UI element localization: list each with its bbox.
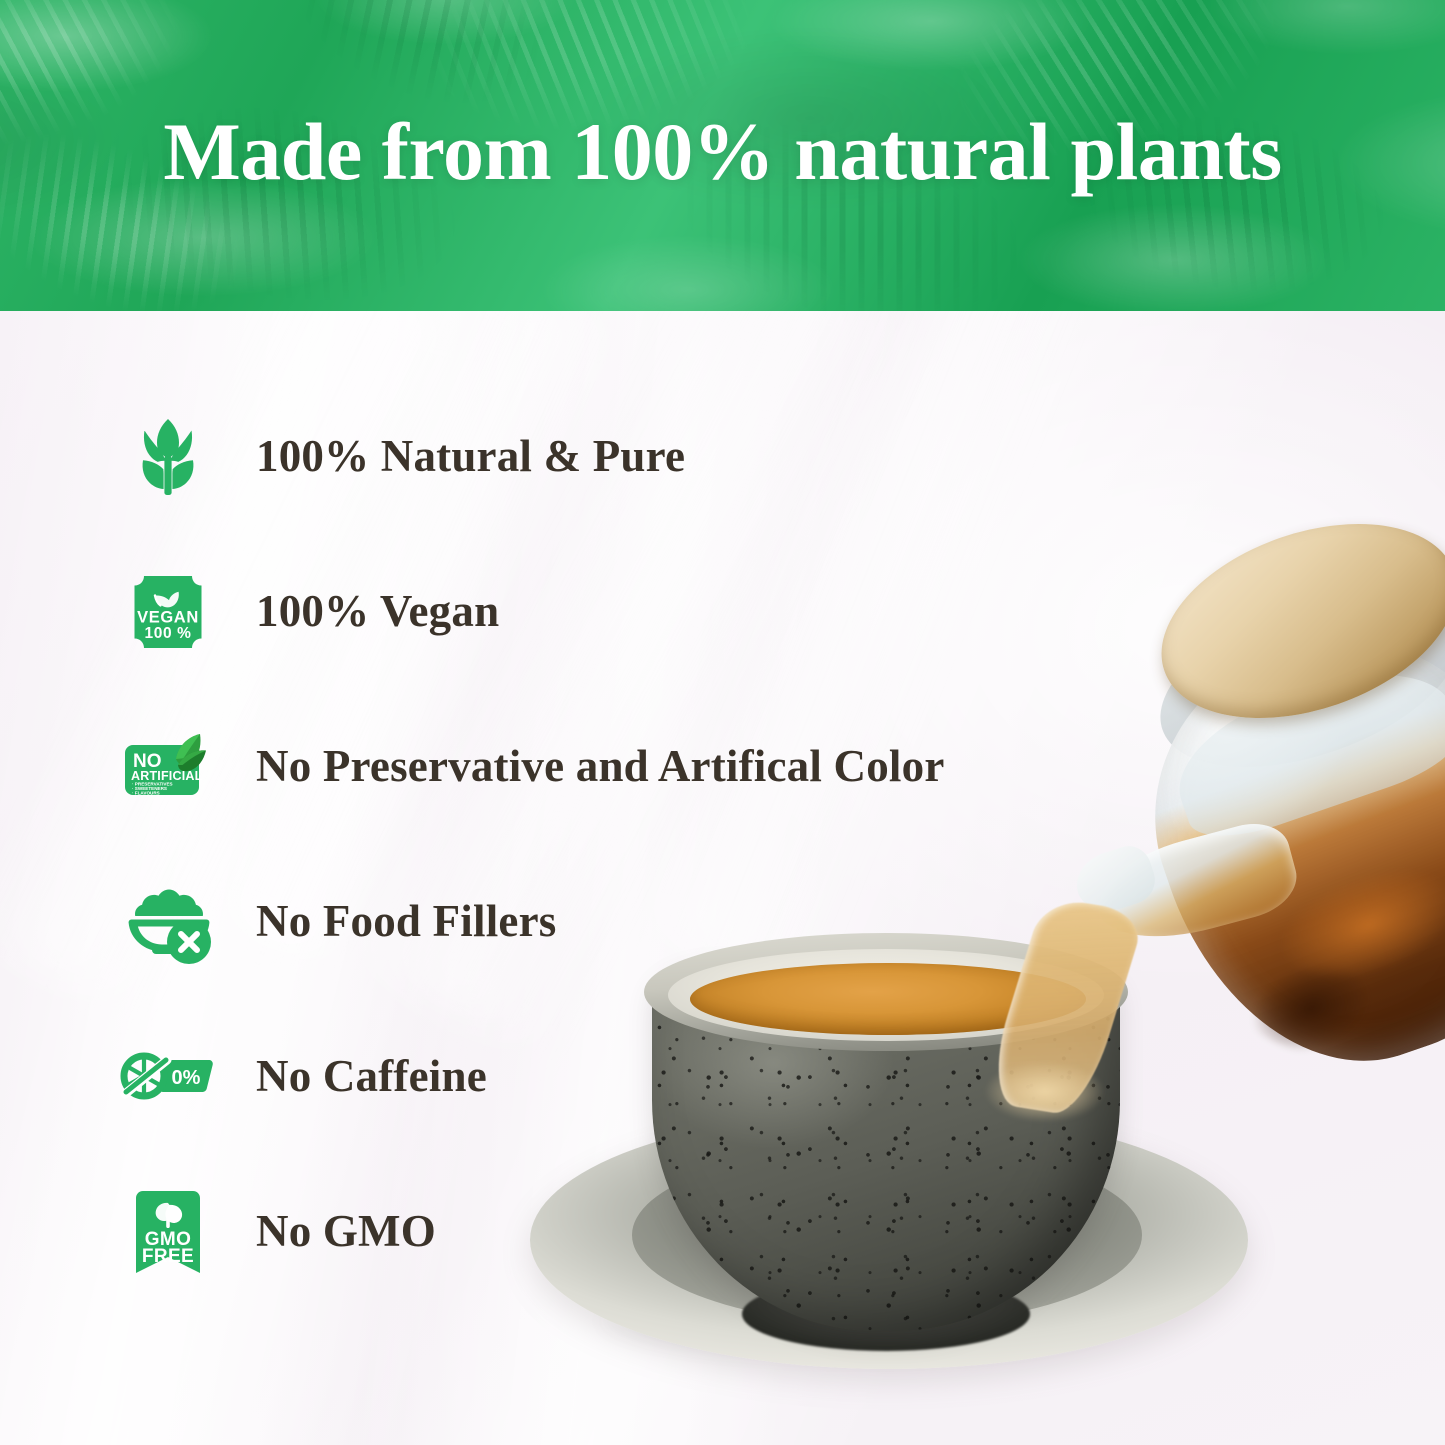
- header-banner: Made from 100% natural plants: [0, 0, 1445, 311]
- plant-sprout-icon: [116, 399, 220, 515]
- feature-item: VEGAN 100 % 100% Vegan: [116, 534, 1076, 689]
- feature-list: 100% Natural & Pure VEGAN 100 % 100% Veg…: [116, 379, 1076, 1309]
- no-artificial-bullet: · FLAVOURS: [132, 790, 160, 795]
- vegan-badge-line1: VEGAN: [137, 608, 199, 626]
- no-caffeine-icon: 0%: [116, 1019, 220, 1135]
- caffeine-percent-text: 0%: [172, 1067, 201, 1089]
- feature-label: 100% Natural & Pure: [256, 432, 685, 482]
- gmo-line2: FREE: [142, 1246, 194, 1267]
- feature-label: No Food Fillers: [256, 897, 556, 947]
- vegan-badge-icon: VEGAN 100 %: [116, 554, 220, 670]
- feature-item: GMO FREE No GMO: [116, 1154, 1076, 1309]
- feature-label: No Preservative and Artifical Color: [256, 742, 945, 792]
- gmo-free-ribbon-icon: GMO FREE: [116, 1174, 220, 1290]
- feature-item: No Food Fillers: [116, 844, 1076, 999]
- no-food-fillers-bowl-icon: [116, 864, 220, 980]
- feature-label: No GMO: [256, 1207, 436, 1257]
- infographic-page: Made from 100% natural plants: [0, 0, 1445, 1445]
- no-artificial-badge-icon: NO ARTIFICIAL · PRESERVATIVES · SWEETENE…: [116, 709, 220, 825]
- feature-item: 100% Natural & Pure: [116, 379, 1076, 534]
- page-title: Made from 100% natural plants: [0, 0, 1445, 311]
- feature-item: 0% No Caffeine: [116, 999, 1076, 1154]
- feature-label: No Caffeine: [256, 1052, 487, 1102]
- feature-label: 100% Vegan: [256, 587, 499, 637]
- feature-item: NO ARTIFICIAL · PRESERVATIVES · SWEETENE…: [116, 689, 1076, 844]
- vegan-badge-line2: 100 %: [145, 625, 192, 642]
